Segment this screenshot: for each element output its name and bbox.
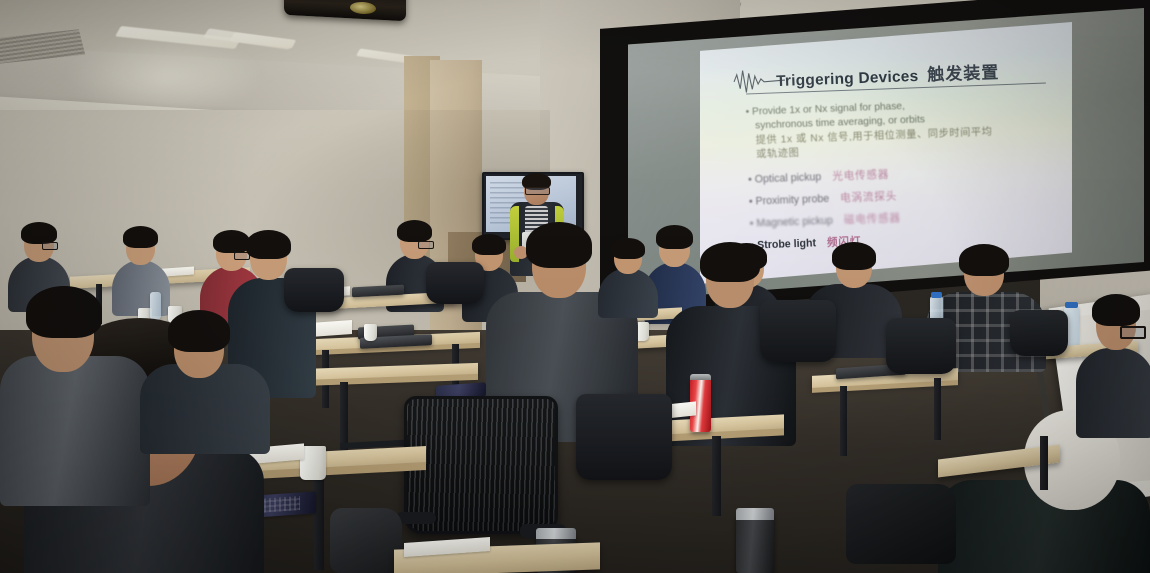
classroom-photo: Triggering Devices触发装置 • Provide 1x or N… (0, 0, 1150, 573)
attendee-hair (832, 242, 876, 270)
flask-cap (736, 508, 774, 520)
slide-bullet-en: • Magnetic pickup (750, 215, 834, 230)
slide-body: • Provide 1x or Nx signal for phase, syn… (745, 94, 1066, 252)
attendee-hair (397, 220, 432, 242)
water-bottle (150, 292, 161, 320)
attendee-hair (656, 225, 693, 249)
slide-bullet-cn: 光电传感器 (832, 169, 889, 183)
attendee (0, 296, 150, 496)
attendee-hair (959, 244, 1009, 276)
desk-leg (840, 386, 847, 456)
backpack (846, 484, 956, 564)
office-chair[interactable] (284, 268, 344, 312)
slide-bullet-cn: 电涡流探头 (840, 190, 897, 204)
slide-title-cn: 触发装置 (927, 63, 1000, 85)
attendee (598, 240, 658, 310)
attendee-hair (246, 230, 291, 259)
vacuum-flask (736, 514, 774, 573)
paper-cup (364, 324, 377, 341)
attendee-body (598, 268, 658, 318)
presenter-glasses-icon (525, 187, 550, 195)
office-chair[interactable] (1010, 310, 1068, 356)
office-chair[interactable] (576, 394, 672, 480)
slide-bullet: • Magnetic pickup磁电传感器 (750, 207, 1066, 230)
attendee-hair (526, 222, 592, 268)
attendee (1076, 300, 1150, 430)
slide-bullet-cn: 磁电传感器 (844, 212, 901, 226)
can-top (690, 374, 711, 380)
attendee (140, 318, 270, 438)
slide-bullet: • Proximity probe电涡流探头 (749, 185, 1065, 208)
office-chair[interactable] (426, 262, 484, 304)
attendee-hair (700, 242, 760, 282)
attendee-hair (168, 310, 230, 352)
ceiling-light-glow (64, 36, 264, 116)
attendee-hair (123, 226, 158, 248)
flask-cap (536, 528, 576, 539)
slide-title-en: Triggering Devices (776, 68, 919, 90)
attendee-hair (611, 238, 645, 259)
desk-leg (1040, 436, 1048, 490)
desk-leg (314, 474, 324, 570)
slide-bullet-en: • Proximity probe (749, 193, 830, 208)
office-chair[interactable] (886, 318, 956, 374)
slide-bullet: • Optical pickup光电传感器 (748, 163, 1064, 186)
waveform-icon (732, 63, 785, 99)
attendee-hair (21, 222, 57, 244)
chair-armrest[interactable] (396, 512, 436, 524)
bottle-cap (931, 292, 942, 298)
attendee-body (1076, 348, 1150, 438)
desk-leg (712, 436, 721, 516)
desk-leg (340, 382, 348, 452)
attendee-hair (26, 286, 102, 338)
attendee-hair (1092, 294, 1140, 326)
slide-bullet: • Strobe light频闪灯 (750, 229, 1066, 252)
glasses-icon (1120, 326, 1146, 339)
office-chair[interactable] (760, 300, 836, 362)
slide-bullet-en: • Optical pickup (748, 171, 822, 186)
glasses-icon (42, 242, 58, 250)
attendee-body (0, 356, 150, 506)
backpack (330, 508, 402, 573)
glasses-icon (418, 241, 434, 249)
